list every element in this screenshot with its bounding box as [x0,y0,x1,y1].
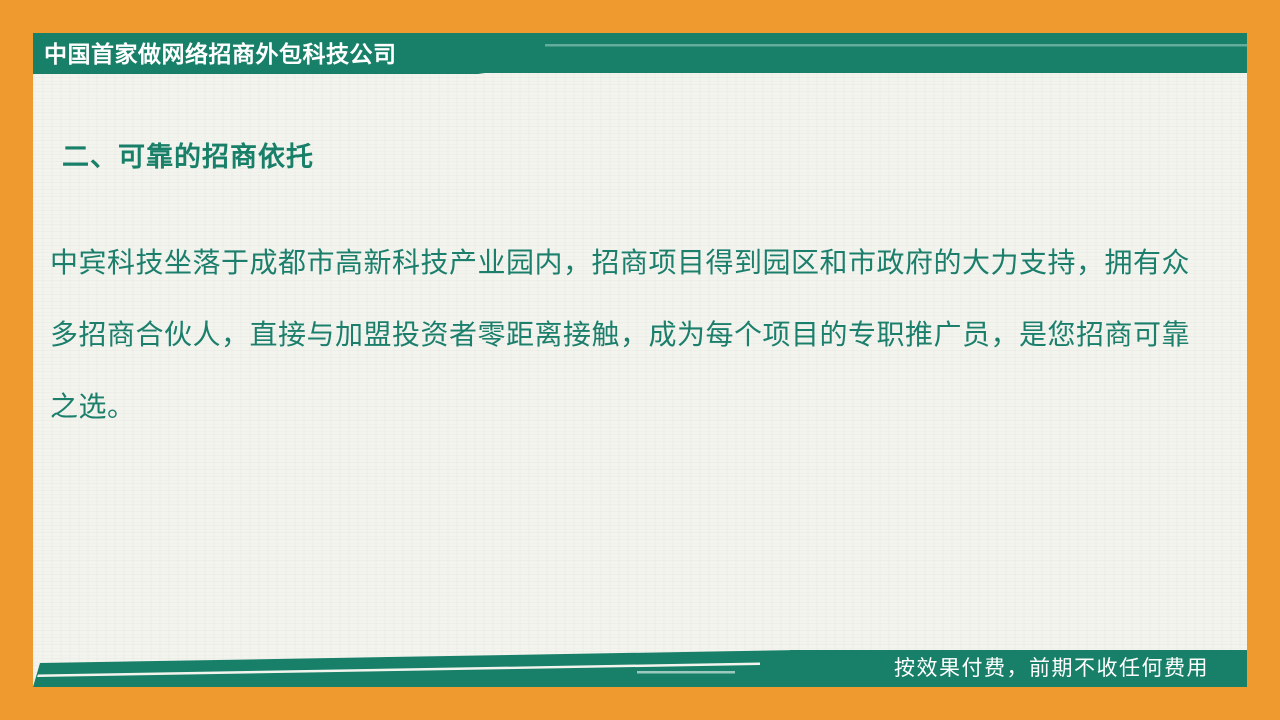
slide-root: 中国首家做网络招商外包科技公司 二、可靠的招商依托 中宾科技坐落于成都市高新科技… [0,0,1280,720]
header-title: 中国首家做网络招商外包科技公司 [44,36,397,72]
body-paragraph: 中宾科技坐落于成都市高新科技产业园内，招商项目得到园区和市政府的大力支持，拥有众… [50,228,1190,444]
footer-tagline: 按效果付费，前期不收任何费用 [894,652,1209,682]
section-heading: 二、可靠的招商依托 [62,135,314,174]
footer-tagline-container: 按效果付费，前期不收任何费用 [0,646,1247,687]
